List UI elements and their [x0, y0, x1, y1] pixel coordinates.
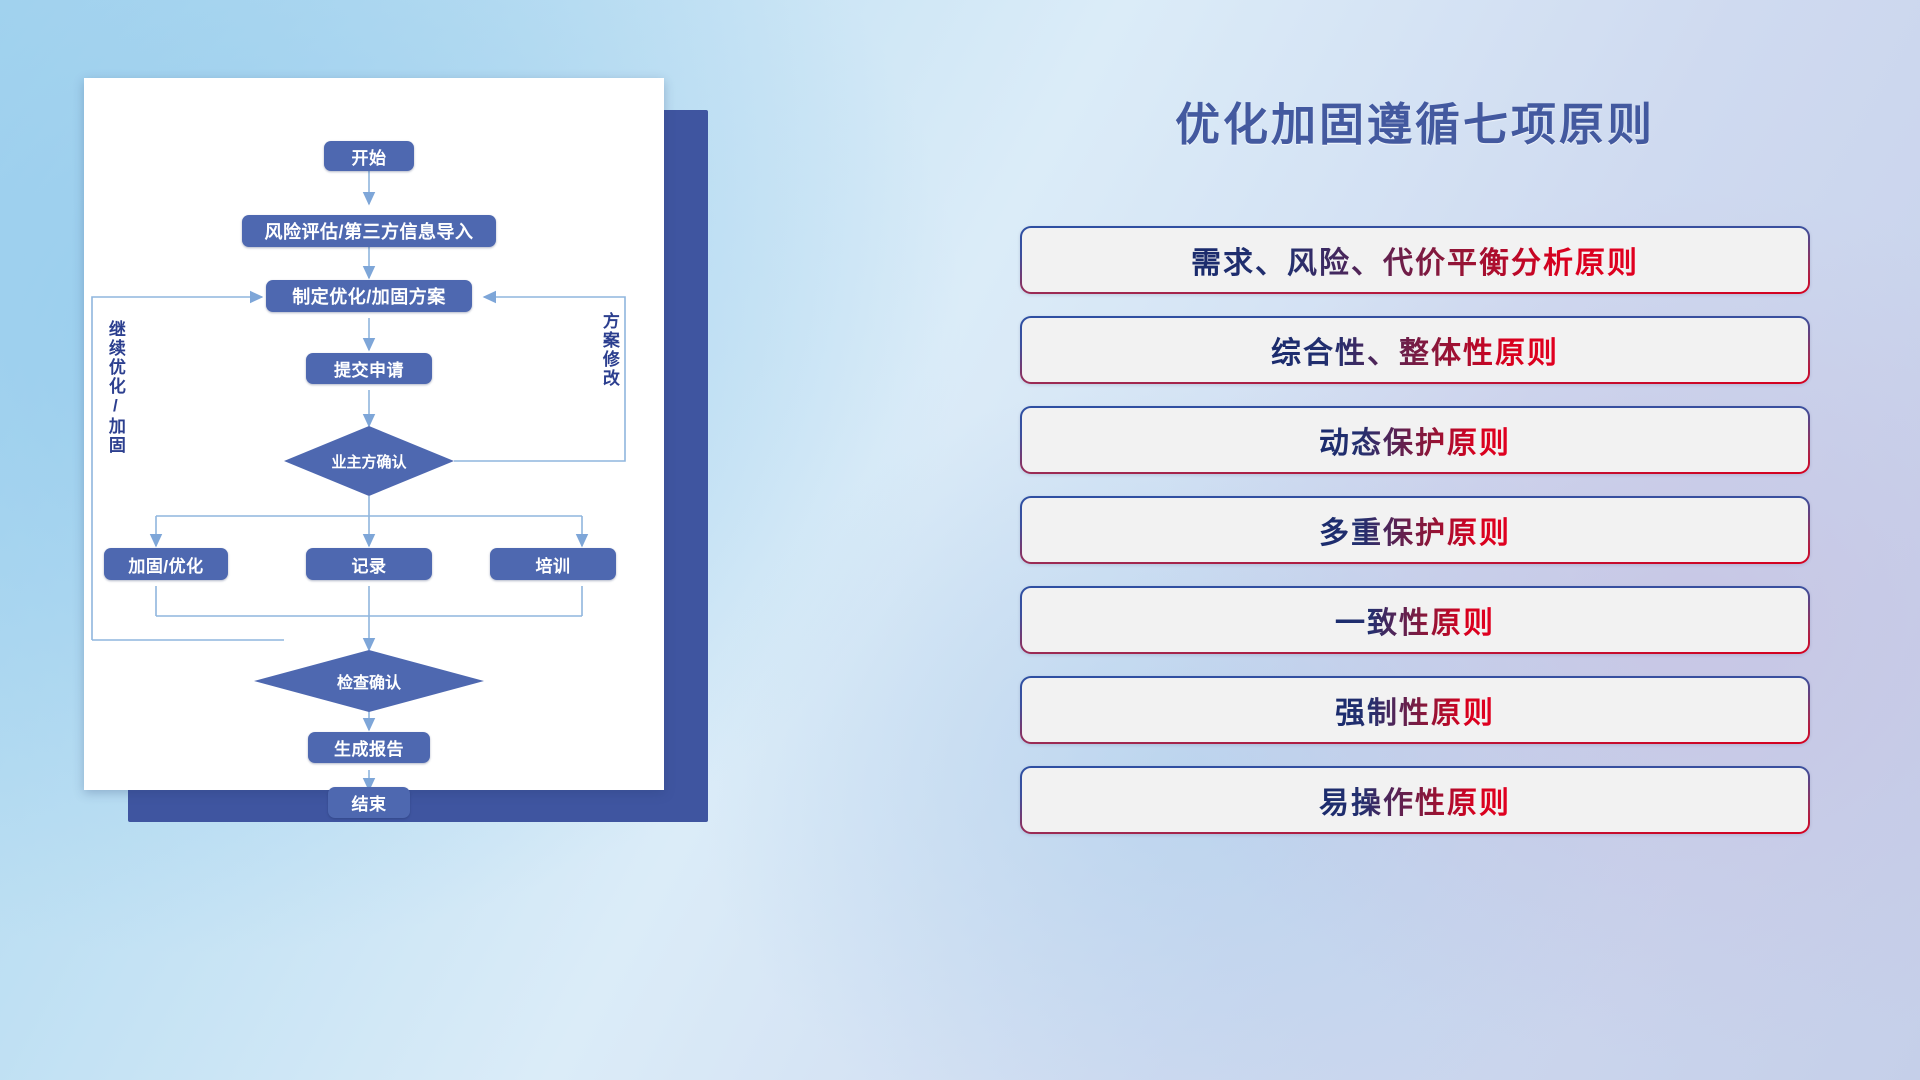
flow-node-owner-confirm[interactable]: 业主方确认 [284, 449, 454, 473]
principle-card[interactable]: 一致性原则 [1020, 586, 1810, 654]
flow-node-report[interactable]: 生成报告 [308, 732, 430, 763]
principle-card-label: 一致性原则 [1335, 598, 1495, 642]
principle-card-label: 强制性原则 [1335, 688, 1495, 732]
flowchart-panel: 开始 风险评估/第三方信息导入 制定优化/加固方案 提交申请 业主方确认 加固/… [84, 78, 664, 790]
principle-card-label: 多重保护原则 [1319, 508, 1511, 552]
flow-node-report-label: 生成报告 [334, 735, 404, 760]
principle-card[interactable]: 综合性、整体性原则 [1020, 316, 1810, 384]
flow-node-training[interactable]: 培训 [490, 548, 616, 580]
flow-node-owner-confirm-label: 业主方确认 [331, 451, 406, 472]
principles-section: 优化加固遵循七项原则 需求、风险、代价平衡分析原则 综合性、整体性原则 动态保护… [1020, 0, 1920, 1080]
flow-edge-label-plan-revise: 方案修改 [600, 312, 618, 388]
principle-card[interactable]: 易操作性原则 [1020, 766, 1810, 834]
flow-node-inspect-confirm-label: 检查确认 [337, 669, 401, 693]
flow-node-plan[interactable]: 制定优化/加固方案 [266, 280, 472, 312]
principle-card[interactable]: 需求、风险、代价平衡分析原则 [1020, 226, 1810, 294]
flow-node-start-label: 开始 [352, 144, 387, 169]
flow-node-risk-assessment-label: 风险评估/第三方信息导入 [265, 218, 474, 244]
flow-node-record[interactable]: 记录 [306, 548, 432, 580]
flow-node-end[interactable]: 结束 [328, 787, 410, 818]
flow-node-start[interactable]: 开始 [324, 141, 414, 171]
flow-node-submit[interactable]: 提交申请 [306, 353, 432, 384]
principle-card[interactable]: 强制性原则 [1020, 676, 1810, 744]
flow-node-risk-assessment[interactable]: 风险评估/第三方信息导入 [242, 215, 496, 247]
flowchart-panel-wrapper: 开始 风险评估/第三方信息导入 制定优化/加固方案 提交申请 业主方确认 加固/… [84, 78, 664, 790]
principles-card-list: 需求、风险、代价平衡分析原则 综合性、整体性原则 动态保护原则 多重保护原则 一… [1020, 226, 1810, 856]
flow-node-record-label: 记录 [352, 552, 387, 577]
principle-card[interactable]: 动态保护原则 [1020, 406, 1810, 474]
flow-node-plan-label: 制定优化/加固方案 [292, 283, 446, 309]
flow-node-training-label: 培训 [536, 552, 571, 577]
flow-node-submit-label: 提交申请 [334, 356, 404, 381]
flow-node-end-label: 结束 [352, 790, 387, 815]
flow-node-reinforce[interactable]: 加固/优化 [104, 548, 228, 580]
principle-card-label: 需求、风险、代价平衡分析原则 [1191, 238, 1639, 282]
principle-card-label: 综合性、整体性原则 [1271, 328, 1559, 372]
principle-card[interactable]: 多重保护原则 [1020, 496, 1810, 564]
principle-card-label: 易操作性原则 [1319, 778, 1511, 822]
flow-node-inspect-confirm[interactable]: 检查确认 [279, 669, 459, 693]
flow-edge-label-continue-optimize: 继续优化/加固 [106, 320, 124, 455]
flow-node-reinforce-label: 加固/优化 [128, 552, 203, 577]
principle-card-label: 动态保护原则 [1319, 418, 1511, 462]
page-title: 优化加固遵循七项原则 [1020, 88, 1810, 153]
